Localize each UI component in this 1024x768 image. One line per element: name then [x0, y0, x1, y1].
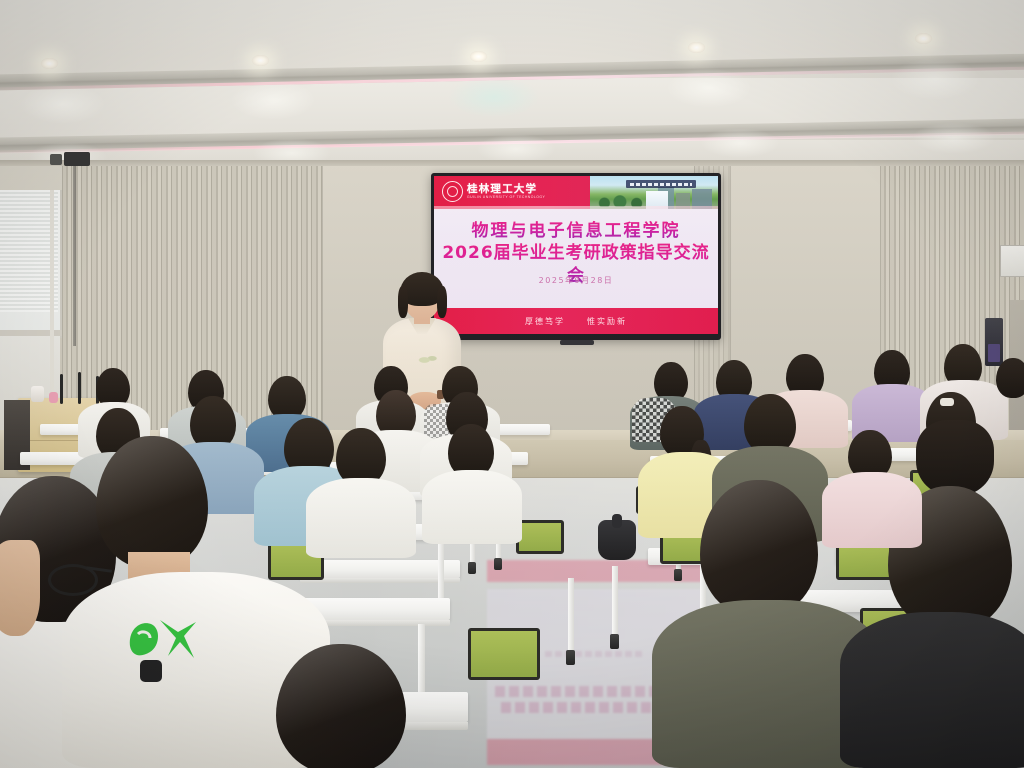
ceiling-light-glow: [20, 84, 106, 124]
speaker-hair-side: [398, 286, 408, 318]
ceiling-light-glow: [666, 68, 752, 108]
ceiling-downlight: [470, 51, 487, 62]
ceiling-light-glow: [230, 80, 316, 120]
ceiling-downlight: [252, 55, 269, 66]
desk-leg-foot: [610, 634, 619, 649]
tshirt-green-graphic: [124, 612, 202, 668]
hair-highlight: [700, 480, 818, 616]
university-seal-icon: [442, 181, 463, 202]
ceiling-light-glow: [912, 122, 996, 154]
desk-leg: [612, 566, 618, 636]
desk-leg-foot: [468, 562, 476, 574]
hair-highlight: [276, 644, 406, 768]
audience-torso: [306, 478, 416, 558]
speaker-hair-side: [437, 286, 447, 318]
chair: [516, 520, 564, 554]
desk-leg: [568, 578, 574, 652]
slide-footer-band: 厚德笃学 惟实励新: [434, 308, 718, 334]
classroom-photo-scene: 桂林理工大学 GUILIN UNIVERSITY OF TECHNOLOGY 物…: [0, 0, 1024, 768]
slide-date: 2025年9月28日: [434, 275, 718, 286]
backpack-strap: [612, 514, 622, 528]
hair-highlight: [96, 436, 208, 568]
ceiling-downlight: [915, 33, 932, 44]
campus-photo-banner: [590, 176, 718, 209]
presentation-slide: 桂林理工大学 GUILIN UNIVERSITY OF TECHNOLOGY 物…: [434, 176, 718, 334]
university-name-en: GUILIN UNIVERSITY OF TECHNOLOGY: [467, 196, 545, 199]
university-name-cn: 桂林理工大学: [467, 184, 545, 195]
audience-torso: [822, 472, 922, 548]
audience-torso: [422, 470, 522, 544]
slide-motto-left: 厚德笃学: [525, 316, 565, 327]
tv-mount-bracket: [560, 340, 594, 345]
security-camera-icon: [64, 152, 90, 166]
ceiling-light-glow: [700, 128, 780, 158]
ceiling-downlight: [41, 58, 58, 69]
tshirt-graphic-svg: [124, 612, 202, 668]
smartwatch: [140, 660, 162, 682]
desk-leg-foot: [566, 650, 575, 665]
audience-hair-clip: [940, 398, 954, 406]
university-logo: 桂林理工大学 GUILIN UNIVERSITY OF TECHNOLOGY: [442, 181, 545, 202]
ceiling-downlight: [688, 42, 705, 53]
desk: [300, 560, 460, 578]
ceiling-light-glow: [448, 76, 540, 118]
ceiling: [0, 0, 1024, 172]
camera-cable-conduit: [73, 166, 76, 346]
slide-motto-right: 惟实励新: [587, 316, 627, 327]
ceiling-light-glow: [890, 58, 980, 100]
desk-item-cup: [31, 386, 44, 402]
audience-torso-foreground: [840, 612, 1024, 768]
desk-front-edge: [300, 578, 460, 583]
wall-control-panel[interactable]: [1000, 245, 1024, 277]
chair: [468, 628, 540, 680]
audience-head: [996, 358, 1024, 398]
speaker-blouse-embroidery: [414, 352, 440, 368]
desk-leg-foot: [494, 558, 502, 570]
slide-title-line-1: 物理与电子信息工程学院: [434, 220, 718, 242]
audience-head: [744, 394, 796, 454]
wall-panel-seam: [322, 166, 323, 456]
audience-hair-long: [916, 420, 994, 496]
tv-screen: 桂林理工大学 GUILIN UNIVERSITY OF TECHNOLOGY 物…: [434, 176, 718, 334]
router-antenna: [78, 372, 81, 404]
wall-display-tv[interactable]: 桂林理工大学 GUILIN UNIVERSITY OF TECHNOLOGY 物…: [431, 173, 721, 340]
slide-header-band: 桂林理工大学 GUILIN UNIVERSITY OF TECHNOLOGY: [434, 176, 718, 209]
wall-device-panel[interactable]: [985, 318, 1003, 366]
campus-photo-caption: [626, 180, 696, 188]
router-antenna: [60, 374, 63, 404]
audience-face-side: [0, 540, 40, 636]
desk-leg-foot: [674, 569, 682, 581]
desk-item-pink: [49, 392, 58, 403]
